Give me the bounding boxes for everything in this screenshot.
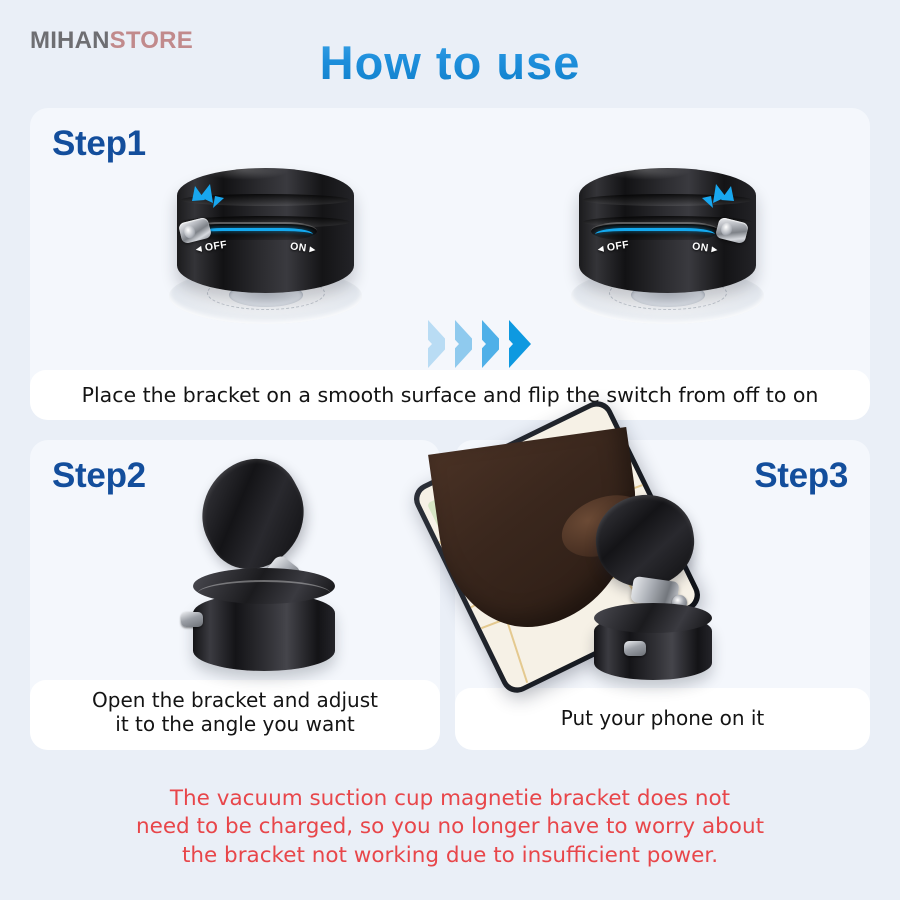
- step1-illustration-stage: ◂ OFF ON ▸: [30, 108, 870, 370]
- bracket-base-ring: [197, 580, 331, 608]
- footer-line-1: The vacuum suction cup magnetie bracket …: [0, 785, 900, 813]
- step-card-1: ◂ OFF ON ▸: [30, 108, 870, 420]
- device-switch-off: ◂ OFF ON ▸: [163, 146, 368, 324]
- step2-caption: Open the bracket and adjust it to the an…: [30, 680, 440, 750]
- bracket-base-top: [594, 603, 712, 633]
- magnetic-disc: [185, 439, 320, 589]
- step-label-1: Step1: [52, 124, 146, 164]
- open-bracket-illustration: [185, 460, 345, 675]
- step2-caption-line1: Open the bracket and adjust: [92, 689, 378, 713]
- step-label-2: Step2: [52, 456, 146, 496]
- step3-caption: Put your phone on it: [455, 688, 870, 750]
- transition-arrows: [428, 320, 531, 368]
- power-switch-knob[interactable]: [624, 641, 646, 656]
- page-title: How to use: [0, 35, 900, 90]
- mounted-bracket-illustration: [590, 495, 730, 680]
- switch-track-highlight: [193, 228, 313, 241]
- step2-caption-line2: it to the angle you want: [92, 713, 378, 737]
- burst-indicator-icon: [693, 184, 735, 218]
- power-switch-knob[interactable]: [181, 612, 203, 627]
- step1-caption: Place the bracket on a smooth surface an…: [30, 370, 870, 420]
- footer-note: The vacuum suction cup magnetie bracket …: [0, 785, 900, 870]
- switch-track-highlight: [595, 228, 715, 241]
- burst-indicator-icon: [191, 184, 233, 218]
- device-switch-on: ◂ OFF ON ▸: [565, 146, 770, 324]
- step-label-3: Step3: [754, 456, 848, 496]
- chevron-icon: [509, 320, 531, 368]
- footer-line-3: the bracket not working due to insuffici…: [0, 842, 900, 870]
- footer-line-2: need to be charged, so you no longer hav…: [0, 813, 900, 841]
